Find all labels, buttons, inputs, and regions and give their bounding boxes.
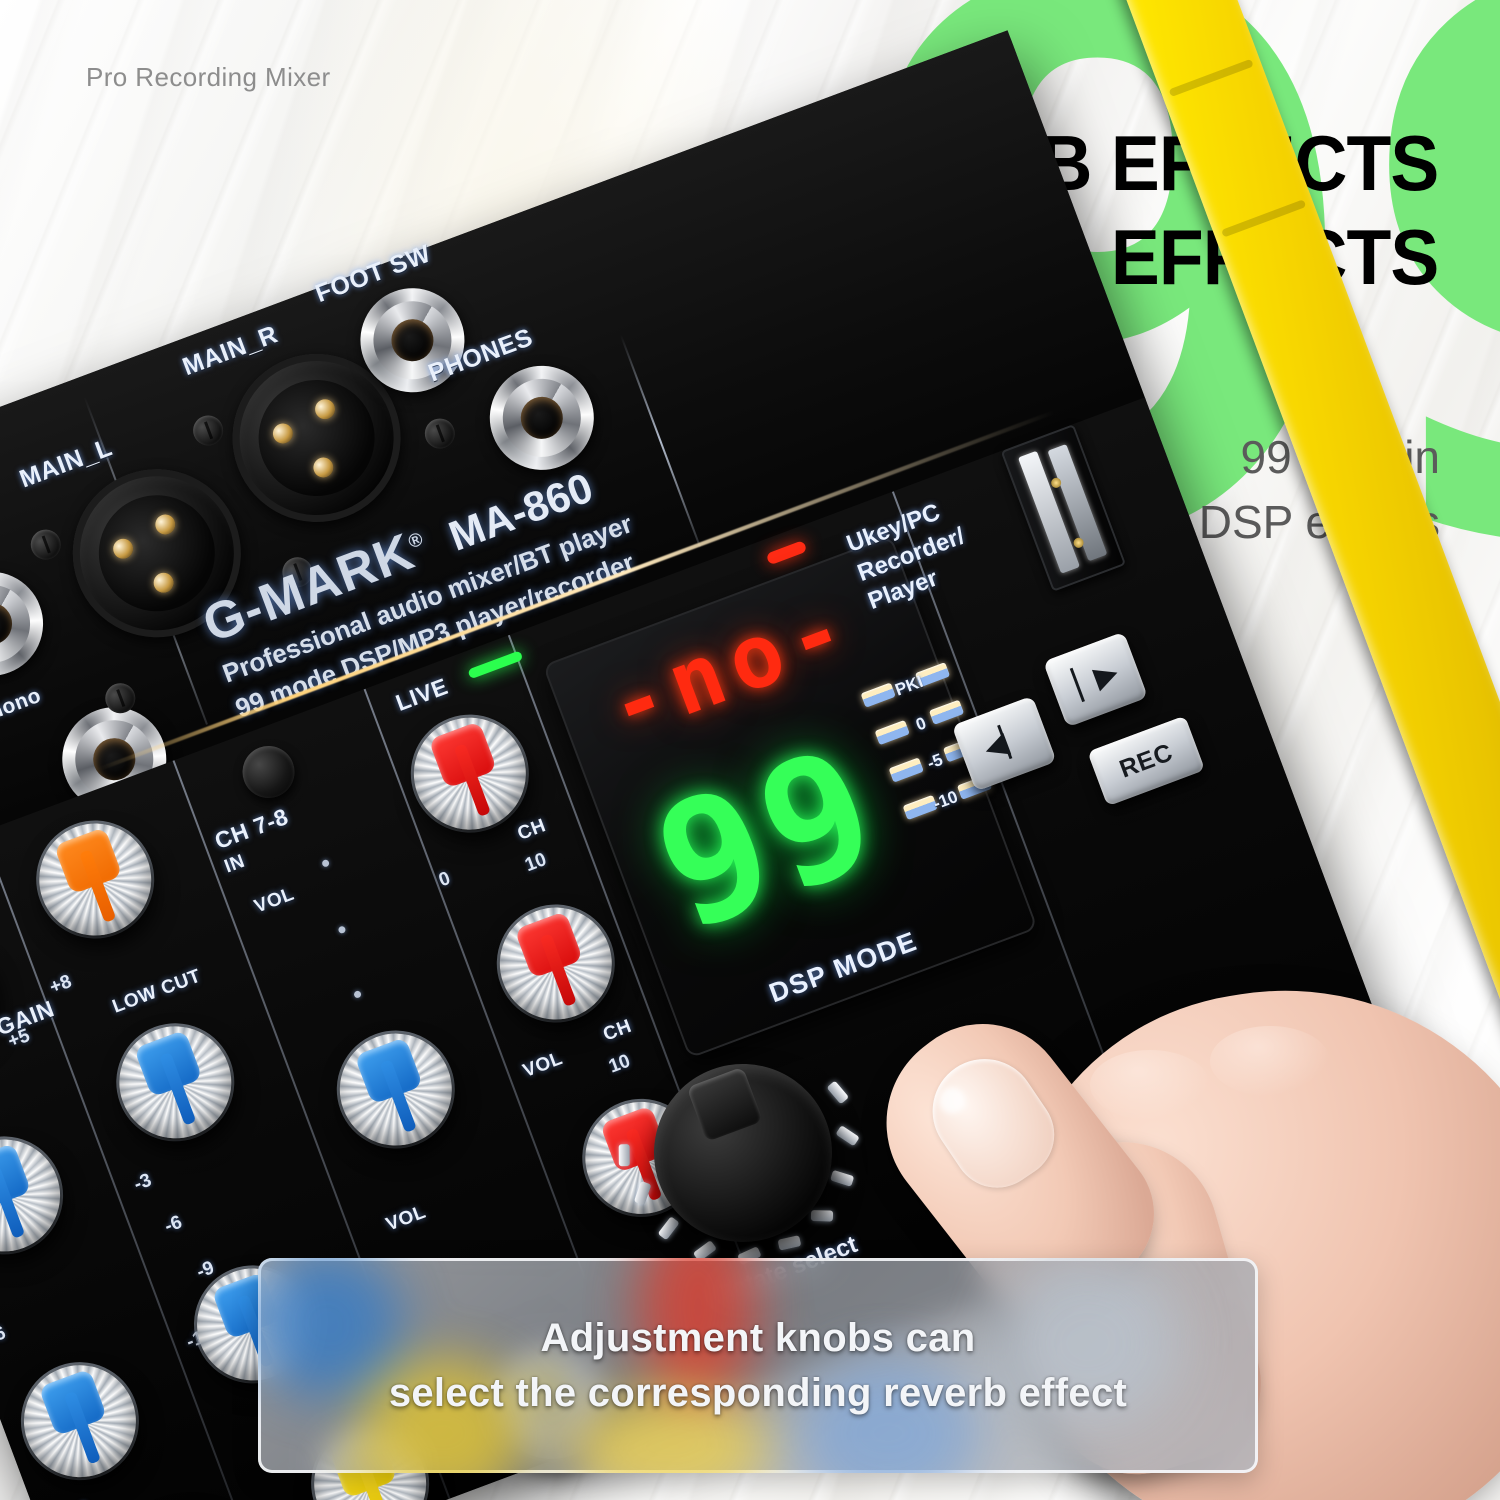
led-indicator-green (467, 650, 523, 679)
label-ch-lower: CH (600, 1016, 635, 1047)
xlr-pin-1 (110, 536, 136, 562)
knob-lowcut-ch1[interactable] (0, 1123, 76, 1267)
banner-line-1: Adjustment knobs can (541, 1316, 976, 1361)
screw-main-r-top (189, 411, 228, 450)
label-lowcut-ch2: LOW CUT (110, 965, 205, 1018)
xlr-pin-2 (152, 512, 178, 538)
encoder-tick (830, 1170, 854, 1187)
rail-notch-bottom (1221, 199, 1306, 237)
label-main-l: MAIN_L (16, 433, 117, 494)
knob-ch-level[interactable] (484, 891, 628, 1035)
xlr-pin-4 (270, 421, 296, 447)
encoder-tick (835, 1125, 859, 1146)
xlr-pin-5 (312, 396, 338, 422)
encoder-tick (634, 1181, 652, 1205)
prev-icon: ◀▏ (980, 722, 1028, 764)
eyebrow-label: Pro Recording Mixer (86, 62, 331, 93)
label-ch78-line1: CH 7-8 (211, 803, 292, 855)
scale-ch2-minus6: -6 (162, 1212, 186, 1239)
button-ch78-in[interactable] (235, 739, 302, 806)
encoder-tick (811, 1210, 833, 1222)
xlr-pin-3 (151, 570, 177, 596)
encoder-tick (658, 1216, 680, 1240)
jack-ch56-lmono[interactable] (0, 557, 58, 691)
scale-ch-10: 10 (606, 1051, 634, 1079)
vu-led (875, 720, 910, 745)
caption-banner: Adjustment knobs can select the correspo… (258, 1258, 1258, 1473)
label-vol-lower: VOL (383, 1202, 429, 1237)
scale-ch2-minus9: -9 (194, 1257, 218, 1284)
scale-gain-ch2-plus8: +8 (47, 971, 75, 999)
rec-label: REC (1116, 738, 1177, 784)
label-ch-live: CH (515, 815, 550, 846)
label-ch78-line2: IN (222, 851, 249, 879)
led-indicator-red (766, 540, 808, 565)
banner-line-2: select the corresponding reverb effect (389, 1371, 1127, 1416)
next-icon: ▏▶ (1071, 658, 1119, 700)
record-button[interactable]: REC (1087, 716, 1205, 807)
next-track-button[interactable]: ▏▶ (1043, 632, 1148, 728)
vu-led (861, 682, 896, 707)
xlr-pin-6 (310, 455, 336, 481)
poster-stage: 9999 Pro Recording Mixer REVERB EFFECTS … (0, 0, 1500, 1500)
knob-level-ch1[interactable] (116, 1490, 260, 1500)
scale-ch2-minus3: -3 (131, 1170, 155, 1197)
rail-notch-top (1169, 59, 1254, 97)
hand-knuckle (1090, 1050, 1210, 1120)
label-live: LIVE (392, 673, 452, 717)
label-usb-recorder: Ukey/PC Recorder/ Player (843, 492, 980, 618)
knob-tick (337, 925, 346, 934)
scale-live-10: 10 (522, 849, 550, 877)
hand-knuckle (1210, 1026, 1330, 1096)
banner-text: Adjustment knobs can select the correspo… (258, 1258, 1258, 1473)
fingernail (912, 1039, 1071, 1205)
encoder-knurl (687, 1067, 764, 1142)
knob-eq-ch1[interactable] (8, 1349, 152, 1493)
knob-gain-ch2[interactable] (23, 807, 167, 951)
encoder-tick (826, 1080, 849, 1104)
screw-phones (421, 414, 460, 453)
usb-slot[interactable] (1001, 424, 1127, 592)
encoder-tick (619, 1144, 630, 1166)
vu-label-minus10: -10 (931, 787, 960, 814)
encoder-tick (777, 1235, 801, 1251)
knob-lowcut-ch2[interactable] (103, 1010, 247, 1154)
vu-led (889, 757, 924, 782)
knob-tick (321, 859, 330, 868)
knob-tick (353, 990, 362, 999)
label-vol-live: VOL (520, 1048, 566, 1083)
label-lmono: L/mono (0, 684, 45, 734)
screw-main-l-top (26, 525, 65, 564)
label-vol-ch78: VOL (252, 884, 298, 919)
knob-ch78-level[interactable] (324, 1017, 468, 1161)
scale-lowcut-minus6: -6 (0, 1322, 9, 1349)
